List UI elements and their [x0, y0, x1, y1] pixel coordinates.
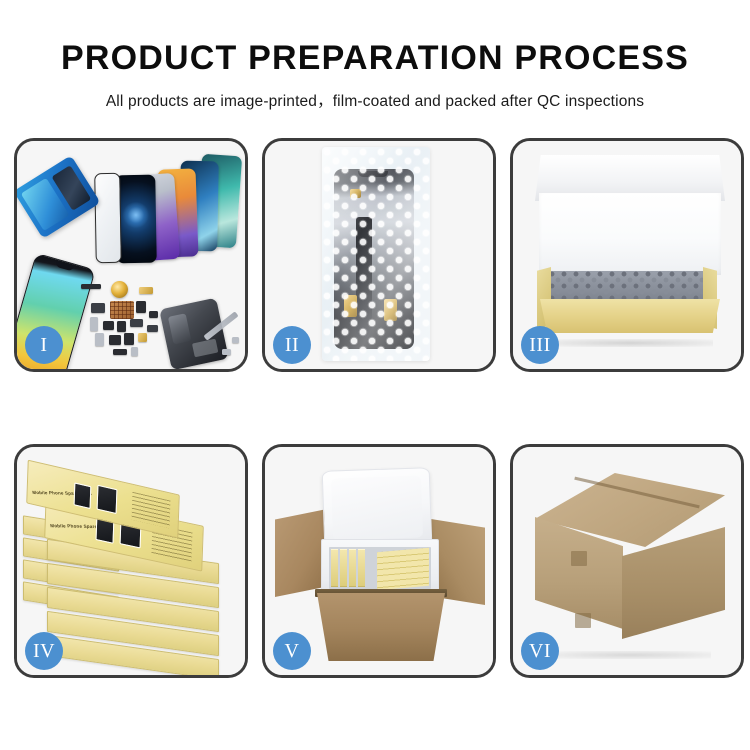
- carton-tape-patch: [571, 551, 587, 566]
- box-spec-text-lines: [132, 492, 171, 529]
- step-numeral-badge: III: [521, 326, 559, 364]
- component-chip: [149, 311, 158, 318]
- box-window-cutout: [97, 485, 118, 514]
- component-chip: [232, 337, 239, 343]
- component-chip: [95, 333, 104, 346]
- styrofoam-lid: [322, 467, 433, 549]
- process-step-1: I: [14, 138, 248, 372]
- component-chip: [103, 321, 114, 330]
- process-step-2: II: [262, 138, 496, 372]
- component-chip: [147, 325, 158, 332]
- yellow-box-edge: [340, 549, 347, 587]
- carton-front-face: [317, 593, 445, 661]
- step-numeral-badge: VI: [521, 632, 559, 670]
- phone-back-housing: [159, 298, 229, 369]
- component-chip: [138, 333, 147, 342]
- process-step-grid: I II: [14, 138, 736, 678]
- step-numeral-badge: V: [273, 632, 311, 670]
- process-step-6: VI: [510, 444, 744, 678]
- step-numeral-badge: II: [273, 326, 311, 364]
- yellow-box-edge: [358, 549, 365, 587]
- step-numeral-badge: IV: [25, 632, 63, 670]
- page-subtitle: All products are image-printed，film-coat…: [0, 89, 750, 111]
- component-chip: [117, 321, 126, 332]
- box-lid-inner-face: [539, 193, 721, 275]
- yellow-box-edge: [331, 549, 338, 587]
- component-chip: [113, 349, 127, 355]
- carton-left-flap: [275, 509, 327, 597]
- process-step-4: Mobile Phone Spare Parts Mobile Phone Sp…: [14, 444, 248, 678]
- box-window-cutout: [74, 482, 92, 509]
- yellow-box-stack: [377, 548, 429, 589]
- component-chip: [139, 287, 153, 294]
- process-step-5: V: [262, 444, 496, 678]
- infographic-page: PRODUCT PREPARATION PROCESS All products…: [0, 0, 750, 750]
- copper-mesh-pad: [110, 301, 134, 319]
- gray-foam-padding: [549, 271, 711, 301]
- drop-shadow: [547, 339, 713, 347]
- component-chip: [90, 317, 98, 331]
- component-chip: [222, 349, 231, 355]
- drop-shadow: [549, 651, 711, 659]
- page-title: PRODUCT PREPARATION PROCESS: [0, 40, 750, 77]
- yellow-box-edge: [349, 549, 356, 587]
- speaker-coil-part: [111, 281, 128, 298]
- carton-tape-patch: [575, 613, 591, 628]
- component-chip: [109, 335, 121, 345]
- component-chip: [91, 303, 105, 313]
- component-chip: [124, 333, 134, 345]
- component-chip: [136, 301, 146, 313]
- bubble-wrap-bag: [322, 147, 430, 361]
- component-chip: [81, 284, 101, 289]
- header: PRODUCT PREPARATION PROCESS All products…: [0, 0, 750, 111]
- adhesive-backed-display: [17, 155, 101, 239]
- component-chip: [131, 347, 138, 356]
- process-step-3: III: [510, 138, 744, 372]
- box-tray-front-wall: [540, 299, 720, 333]
- tempered-glass-protector: [94, 173, 122, 263]
- liner-cavity: [329, 547, 431, 589]
- step-numeral-badge: I: [25, 326, 63, 364]
- component-chip: [130, 319, 143, 327]
- plastic-sheen: [322, 147, 430, 361]
